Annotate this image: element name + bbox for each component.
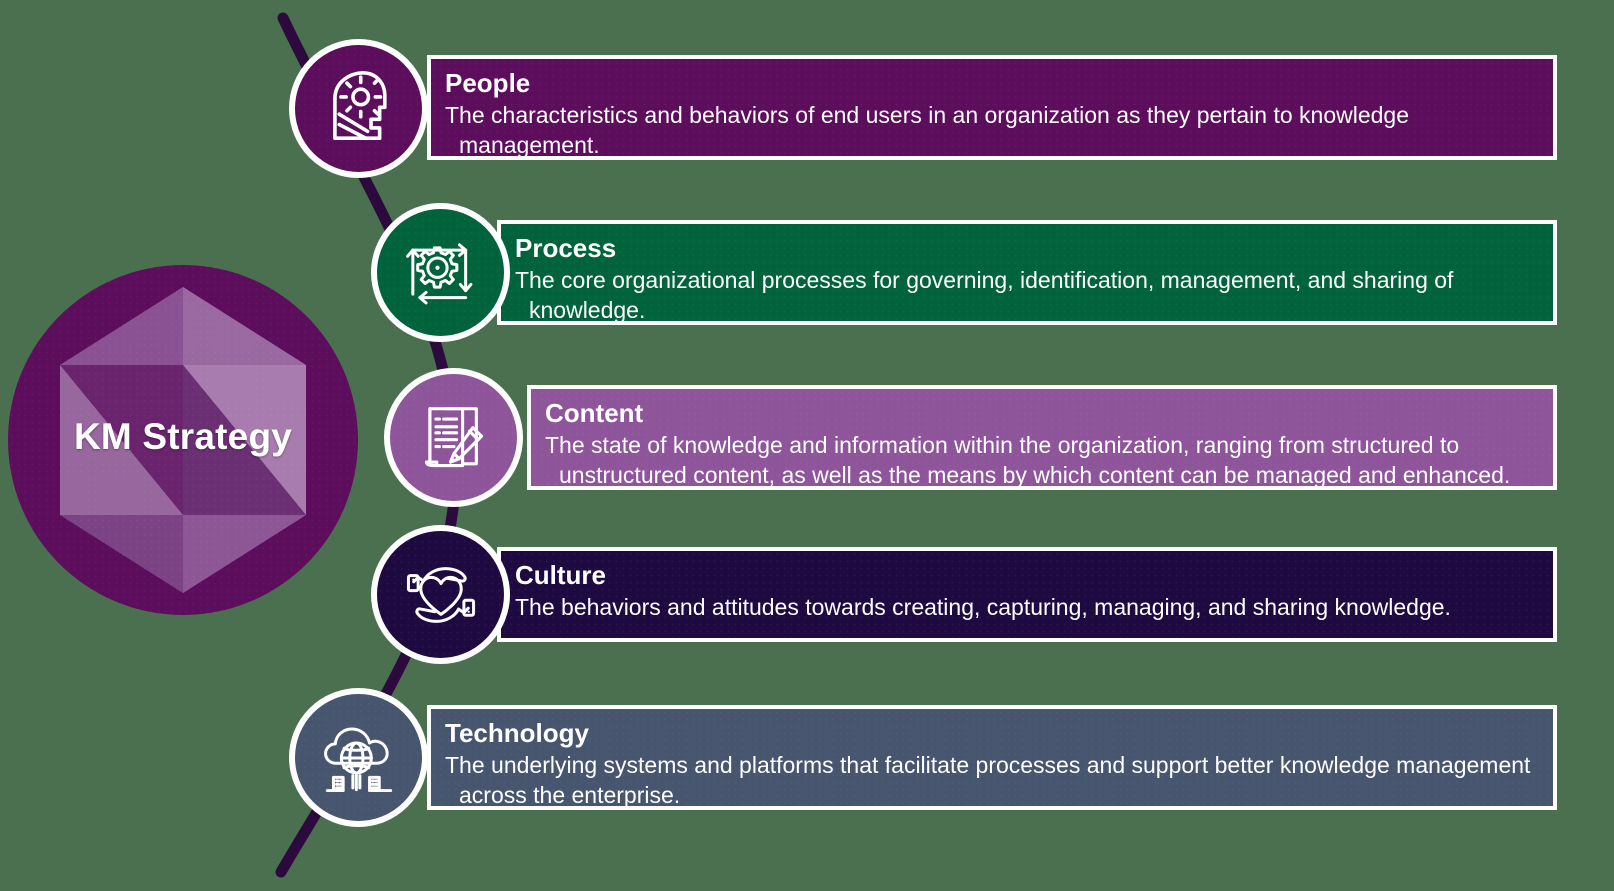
pillar-description-process: The core organizational processes for go… bbox=[515, 265, 1537, 325]
pillar-badge-people[interactable] bbox=[289, 39, 428, 178]
pillar-description-culture: The behaviors and attitudes towards crea… bbox=[515, 592, 1537, 622]
document-pencil-icon bbox=[411, 395, 497, 481]
hub-label: KM Strategy bbox=[8, 415, 358, 459]
hands-heart-icon bbox=[397, 551, 485, 639]
pillar-title-technology: Technology bbox=[445, 717, 1537, 749]
pillar-title-culture: Culture bbox=[515, 559, 1537, 591]
pillar-bar-content[interactable]: Content The state of knowledge and infor… bbox=[527, 385, 1557, 490]
diagram-canvas: KM Strategy People The characteristics a… bbox=[0, 0, 1614, 891]
pillar-badge-process[interactable] bbox=[371, 203, 510, 342]
pillar-bar-people[interactable]: People The characteristics and behaviors… bbox=[427, 55, 1557, 160]
cloud-globe-server-icon bbox=[315, 714, 403, 802]
pillar-title-people: People bbox=[445, 67, 1537, 99]
pillar-badge-technology[interactable] bbox=[289, 688, 428, 827]
pillar-bar-process[interactable]: Process The core organizational processe… bbox=[497, 220, 1557, 325]
head-profile-lightbulb-icon bbox=[316, 66, 402, 152]
pillar-description-technology: The underlying systems and platforms tha… bbox=[445, 750, 1537, 810]
pillar-bar-technology[interactable]: Technology The underlying systems and pl… bbox=[427, 705, 1557, 810]
pillar-badge-content[interactable] bbox=[384, 368, 523, 507]
pillar-description-people: The characteristics and behaviors of end… bbox=[445, 100, 1537, 160]
pillar-badge-culture[interactable] bbox=[371, 525, 510, 664]
pillar-description-content: The state of knowledge and information w… bbox=[545, 430, 1537, 490]
gear-cycle-arrows-icon bbox=[397, 229, 485, 317]
pillar-title-content: Content bbox=[545, 397, 1537, 429]
km-strategy-hub: KM Strategy bbox=[8, 265, 358, 615]
pillar-title-process: Process bbox=[515, 232, 1537, 264]
pillar-bar-culture[interactable]: Culture The behaviors and attitudes towa… bbox=[497, 547, 1557, 642]
